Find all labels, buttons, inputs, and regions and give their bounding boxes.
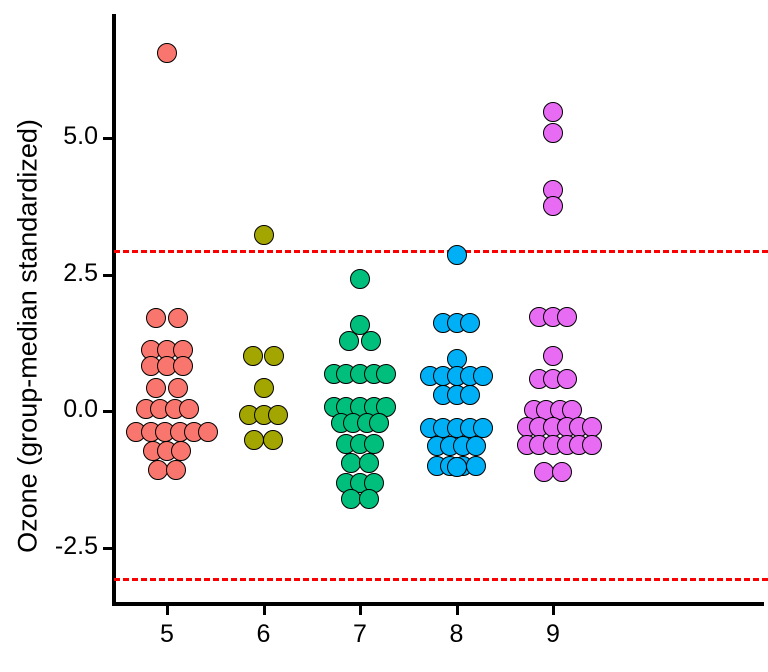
x-tick-label: 8 — [427, 620, 487, 649]
data-point — [150, 399, 170, 419]
data-point — [376, 364, 396, 384]
data-point — [168, 308, 188, 328]
data-point — [529, 417, 549, 437]
data-point — [420, 366, 440, 386]
data-point — [357, 413, 377, 433]
y-tick-mark — [103, 274, 113, 277]
data-point — [336, 397, 356, 417]
data-point — [543, 369, 563, 389]
data-point — [543, 307, 563, 327]
data-point — [460, 385, 480, 405]
data-point — [141, 422, 161, 442]
data-point — [359, 489, 379, 509]
data-point — [157, 441, 177, 461]
data-point — [239, 405, 259, 425]
y-tick-label: 2.5 — [44, 259, 98, 288]
data-point — [324, 397, 344, 417]
data-point — [427, 456, 447, 476]
data-point — [126, 422, 146, 442]
y-tick-mark — [103, 410, 113, 413]
data-point — [543, 346, 563, 366]
data-point — [543, 196, 563, 216]
data-point — [447, 457, 467, 477]
data-point — [447, 313, 467, 333]
data-point — [359, 453, 379, 473]
data-point — [582, 435, 602, 455]
data-point — [460, 418, 480, 438]
data-point — [268, 405, 288, 425]
data-point — [136, 399, 156, 419]
data-point — [350, 397, 370, 417]
data-point — [447, 245, 467, 265]
y-axis-label: Ozone (group-median standardized) — [0, 0, 56, 672]
data-point — [165, 399, 185, 419]
data-point — [433, 366, 453, 386]
x-tick-label: 7 — [330, 620, 390, 649]
data-point — [376, 397, 396, 417]
data-point — [324, 364, 344, 384]
data-point — [557, 417, 577, 437]
x-axis-line — [112, 602, 764, 606]
data-point — [254, 378, 274, 398]
data-point — [263, 430, 283, 450]
data-point — [562, 400, 582, 420]
data-point — [420, 418, 440, 438]
data-point — [447, 349, 467, 369]
data-point — [254, 405, 274, 425]
data-point — [173, 356, 193, 376]
y-tick-label: -2.5 — [44, 532, 98, 561]
data-point — [433, 313, 453, 333]
data-point — [536, 400, 556, 420]
data-point — [350, 364, 370, 384]
data-point — [244, 430, 264, 450]
y-tick-label: 0.0 — [44, 395, 98, 424]
data-point — [146, 308, 166, 328]
data-point — [543, 123, 563, 143]
data-point — [254, 225, 274, 245]
data-point — [447, 366, 467, 386]
data-point — [529, 369, 549, 389]
data-point — [350, 315, 370, 335]
data-point — [350, 434, 370, 454]
data-point — [166, 460, 186, 480]
data-point — [466, 436, 486, 456]
data-point — [173, 340, 193, 360]
y-axis-line — [112, 14, 116, 605]
data-point — [171, 441, 191, 461]
data-point — [364, 364, 384, 384]
data-point — [179, 399, 199, 419]
data-point — [331, 413, 351, 433]
data-point — [433, 418, 453, 438]
data-point — [524, 400, 544, 420]
data-point — [517, 417, 537, 437]
data-point — [543, 417, 563, 437]
data-point — [148, 460, 168, 480]
data-point — [198, 422, 218, 442]
data-point — [466, 456, 486, 476]
data-point — [582, 417, 602, 437]
data-point — [364, 397, 384, 417]
x-tick-label: 6 — [234, 620, 294, 649]
data-point — [569, 417, 589, 437]
data-point — [350, 473, 370, 493]
x-tick-mark — [552, 605, 555, 615]
data-point — [184, 422, 204, 442]
data-point — [264, 346, 284, 366]
data-point — [427, 436, 447, 456]
data-point — [243, 346, 263, 366]
upper-threshold-line — [114, 250, 768, 253]
data-point — [343, 413, 363, 433]
data-point — [534, 462, 554, 482]
lower-threshold-line — [114, 578, 768, 581]
data-point — [433, 385, 453, 405]
data-point — [453, 456, 473, 476]
data-point — [550, 400, 570, 420]
x-tick-mark — [263, 605, 266, 615]
data-point — [552, 462, 572, 482]
data-point — [141, 356, 161, 376]
data-point — [143, 441, 163, 461]
data-point — [569, 435, 589, 455]
data-point — [369, 413, 389, 433]
data-point — [336, 364, 356, 384]
x-tick-mark — [456, 605, 459, 615]
data-point — [440, 436, 460, 456]
data-point — [341, 453, 361, 473]
data-point — [543, 102, 563, 122]
y-tick-mark — [103, 137, 113, 140]
data-point — [141, 340, 161, 360]
data-point — [364, 434, 384, 454]
data-point — [440, 456, 460, 476]
data-point — [557, 307, 577, 327]
data-point — [529, 307, 549, 327]
data-point — [543, 435, 563, 455]
data-point — [361, 331, 381, 351]
data-point — [157, 340, 177, 360]
data-point — [460, 313, 480, 333]
data-point — [339, 331, 359, 351]
y-tick-mark — [103, 547, 113, 550]
ozone-dotplot-figure: Ozone (group-median standardized) 5.02.5… — [0, 0, 768, 672]
x-tick-label: 9 — [523, 620, 583, 649]
data-point — [146, 378, 166, 398]
data-point — [453, 436, 473, 456]
y-tick-label: 5.0 — [44, 122, 98, 151]
data-point — [447, 385, 467, 405]
data-point — [517, 435, 537, 455]
data-point — [341, 489, 361, 509]
data-point — [157, 43, 177, 63]
data-point — [336, 434, 356, 454]
data-point — [557, 369, 577, 389]
data-point — [543, 180, 563, 200]
data-point — [155, 422, 175, 442]
data-point — [473, 418, 493, 438]
data-point — [473, 366, 493, 386]
x-tick-mark — [359, 605, 362, 615]
x-tick-label: 5 — [137, 620, 197, 649]
data-point — [460, 366, 480, 386]
data-point — [350, 269, 370, 289]
data-point — [336, 473, 356, 493]
data-point — [447, 418, 467, 438]
data-point — [557, 435, 577, 455]
data-point — [170, 422, 190, 442]
y-axis-label-text: Ozone (group-median standardized) — [13, 119, 44, 553]
data-point — [364, 473, 384, 493]
x-tick-mark — [166, 605, 169, 615]
data-point — [168, 378, 188, 398]
data-point — [157, 356, 177, 376]
data-point — [529, 435, 549, 455]
